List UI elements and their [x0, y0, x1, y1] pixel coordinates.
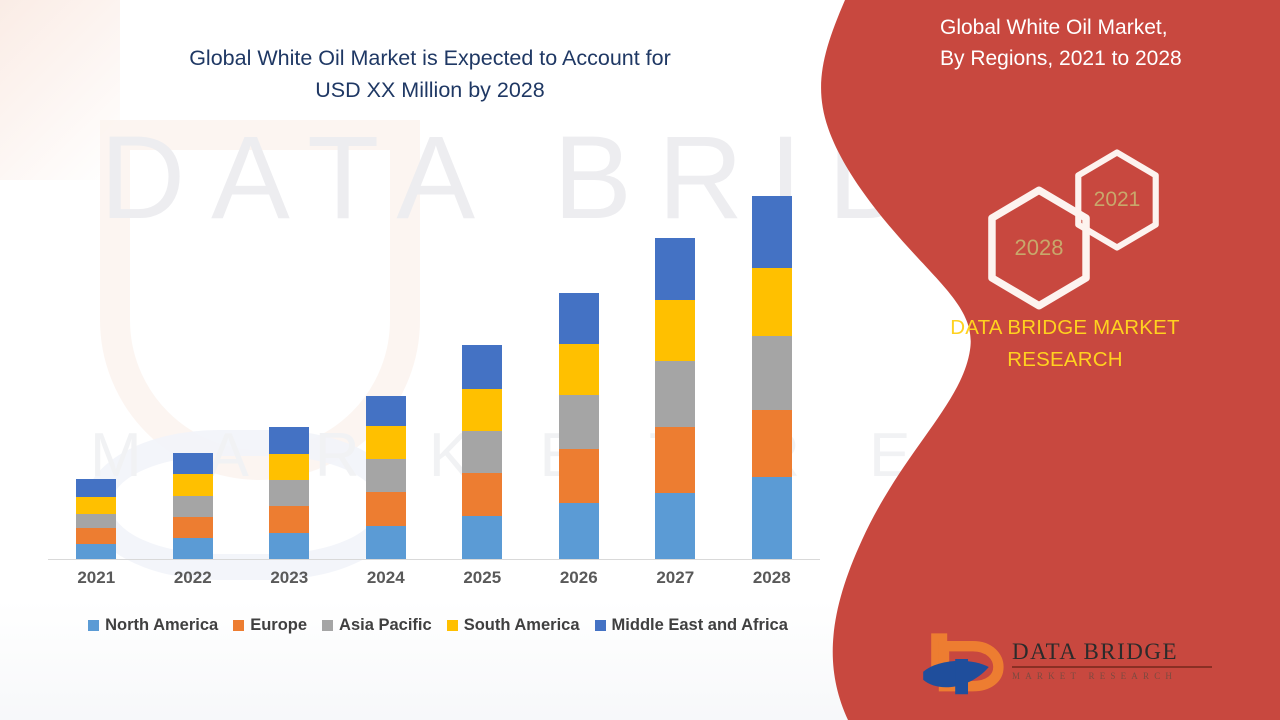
- stacked-bar-2021[interactable]: [76, 479, 116, 559]
- bar-segment[interactable]: [366, 492, 406, 526]
- x-axis-line: [48, 559, 820, 560]
- stacked-bar-2022[interactable]: [173, 453, 213, 559]
- panel-title: Global White Oil Market, By Regions, 202…: [940, 12, 1270, 74]
- legend-swatch-icon: [88, 620, 99, 631]
- bar-segment[interactable]: [462, 345, 502, 390]
- logo-wordmark: DATA BRIDGE MARKET RESEARCH: [1012, 639, 1222, 681]
- bar-segment[interactable]: [559, 344, 599, 396]
- bar-slot: [724, 130, 821, 559]
- bar-segment[interactable]: [269, 533, 309, 559]
- x-tick-2023: 2023: [241, 568, 338, 588]
- legend-swatch-icon: [447, 620, 458, 631]
- bar-segment[interactable]: [752, 268, 792, 336]
- bar-segment[interactable]: [269, 427, 309, 454]
- bar-segment[interactable]: [366, 396, 406, 426]
- bar-segment[interactable]: [559, 503, 599, 559]
- bar-segment[interactable]: [462, 431, 502, 473]
- bar-segment[interactable]: [559, 449, 599, 503]
- bar-segment[interactable]: [173, 474, 213, 496]
- bar-slot: [241, 130, 338, 559]
- logo-subtitle: MARKET RESEARCH: [1012, 671, 1222, 681]
- x-axis-tick-labels: 20212022202320242025202620272028: [48, 568, 820, 588]
- legend-item[interactable]: South America: [447, 616, 580, 635]
- legend-label: Middle East and Africa: [612, 616, 788, 635]
- bar-slot: [48, 130, 145, 559]
- stacked-bar-2023[interactable]: [269, 427, 309, 559]
- x-tick-2027: 2027: [627, 568, 724, 588]
- stacked-bar-2028[interactable]: [752, 196, 792, 559]
- brand-panel-content: Global White Oil Market, By Regions, 202…: [810, 0, 1280, 720]
- bar-segment[interactable]: [655, 493, 695, 559]
- x-tick-2021: 2021: [48, 568, 145, 588]
- bar-segment[interactable]: [559, 395, 599, 449]
- logo-mark-icon: [920, 627, 1008, 699]
- legend-swatch-icon: [595, 620, 606, 631]
- legend-item[interactable]: Middle East and Africa: [595, 616, 788, 635]
- x-tick-2022: 2022: [145, 568, 242, 588]
- bar-segment[interactable]: [76, 497, 116, 514]
- infographic-canvas: DATA BRIDGE M A R K E T R E S E A R C H …: [0, 0, 1280, 720]
- stacked-bar-2024[interactable]: [366, 396, 406, 559]
- x-tick-2026: 2026: [531, 568, 628, 588]
- bar-slot: [434, 130, 531, 559]
- bar-slot: [338, 130, 435, 559]
- bar-segment[interactable]: [366, 459, 406, 492]
- bar-slot: [531, 130, 628, 559]
- hexagon-badge-2028-label: 2028: [985, 186, 1093, 310]
- hexagon-badge-2028: 2028: [985, 186, 1093, 310]
- bar-slot: [627, 130, 724, 559]
- panel-title-line-1: Global White Oil Market,: [940, 12, 1270, 43]
- bar-segment[interactable]: [559, 293, 599, 344]
- stacked-bar-2025[interactable]: [462, 345, 502, 559]
- bar-segment[interactable]: [462, 473, 502, 516]
- bar-segment[interactable]: [366, 526, 406, 559]
- bar-segment[interactable]: [76, 479, 116, 497]
- brand-name: DATA BRIDGE MARKET RESEARCH: [920, 312, 1210, 376]
- chart-title-line-1: Global White Oil Market is Expected to A…: [60, 42, 800, 74]
- bar-segment[interactable]: [655, 300, 695, 362]
- bar-segment[interactable]: [655, 361, 695, 427]
- chart-title-line-2: USD XX Million by 2028: [60, 74, 800, 106]
- brand-name-line-1: DATA BRIDGE MARKET: [920, 312, 1210, 344]
- bar-segment[interactable]: [76, 514, 116, 528]
- x-tick-2028: 2028: [724, 568, 821, 588]
- bar-segment[interactable]: [366, 426, 406, 459]
- brand-name-line-2: RESEARCH: [920, 344, 1210, 376]
- bar-segment[interactable]: [752, 410, 792, 477]
- chart-legend: North AmericaEuropeAsia PacificSouth Ame…: [48, 616, 828, 635]
- bar-segment[interactable]: [655, 427, 695, 493]
- legend-item[interactable]: North America: [88, 616, 218, 635]
- stacked-bar-2026[interactable]: [559, 293, 599, 559]
- bar-segment[interactable]: [462, 389, 502, 431]
- bar-segment[interactable]: [462, 516, 502, 559]
- bar-segment[interactable]: [173, 453, 213, 474]
- x-tick-2025: 2025: [434, 568, 531, 588]
- bar-segment[interactable]: [269, 506, 309, 533]
- legend-item[interactable]: Europe: [233, 616, 307, 635]
- bar-segment[interactable]: [752, 196, 792, 268]
- bar-segment[interactable]: [752, 336, 792, 411]
- legend-label: Europe: [250, 616, 307, 635]
- logo-name: DATA BRIDGE: [1012, 639, 1222, 665]
- bar-segment[interactable]: [752, 477, 792, 559]
- chart-plot-area: [48, 130, 820, 560]
- x-tick-2024: 2024: [338, 568, 435, 588]
- bar-segment[interactable]: [76, 528, 116, 544]
- legend-label: South America: [464, 616, 580, 635]
- company-logo: DATA BRIDGE MARKET RESEARCH: [920, 625, 1220, 705]
- legend-label: Asia Pacific: [339, 616, 432, 635]
- hexagon-badges: 2021 2028: [975, 148, 1175, 288]
- bar-segment[interactable]: [269, 454, 309, 480]
- logo-divider: [1012, 666, 1212, 668]
- bar-slot: [145, 130, 242, 559]
- panel-title-line-2: By Regions, 2021 to 2028: [940, 43, 1270, 74]
- bar-segment[interactable]: [173, 538, 213, 559]
- bar-group: [48, 130, 820, 559]
- legend-item[interactable]: Asia Pacific: [322, 616, 432, 635]
- bar-segment[interactable]: [76, 544, 116, 559]
- bar-segment[interactable]: [269, 480, 309, 506]
- stacked-bar-2027[interactable]: [655, 238, 695, 559]
- chart-title: Global White Oil Market is Expected to A…: [60, 42, 800, 106]
- bar-segment[interactable]: [173, 517, 213, 538]
- bar-segment[interactable]: [173, 496, 213, 517]
- legend-swatch-icon: [322, 620, 333, 631]
- legend-label: North America: [105, 616, 218, 635]
- legend-swatch-icon: [233, 620, 244, 631]
- bar-segment[interactable]: [655, 238, 695, 300]
